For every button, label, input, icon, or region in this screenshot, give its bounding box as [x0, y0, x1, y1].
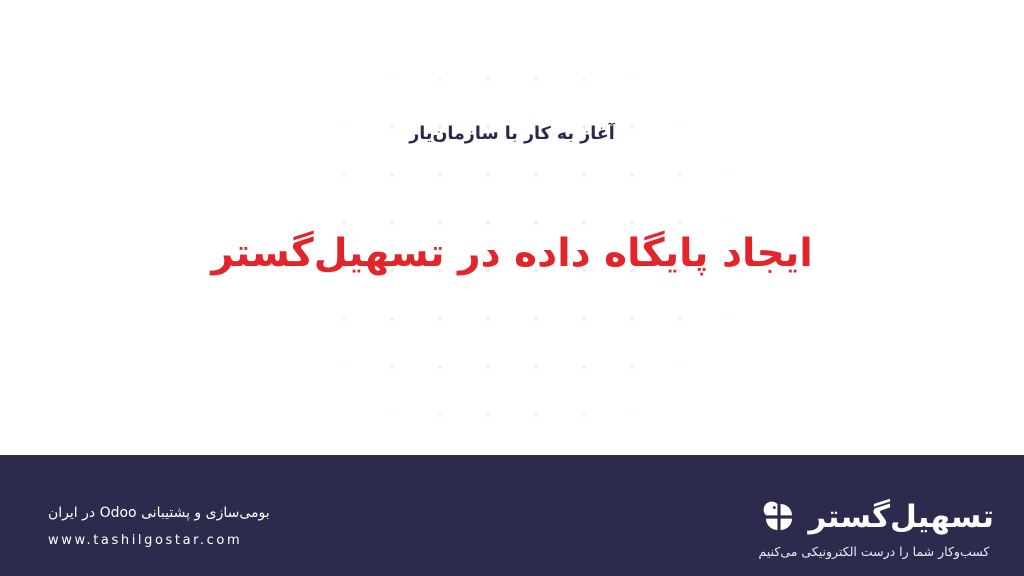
brand-lockup: تسهیل‌گستر کسب‌وکار شما را درست الکترونی… — [759, 497, 995, 560]
brand-row: تسهیل‌گستر — [759, 497, 995, 537]
slide-canvas: آغاز به کار با سازمان‌یار ایجاد پایگاه د… — [0, 0, 1024, 576]
four-petal-logo-icon — [759, 497, 799, 537]
footer-website-url[interactable]: www.tashilgostar.com — [48, 533, 270, 548]
brand-wordmark: تسهیل‌گستر — [809, 502, 995, 533]
slide-hero: آغاز به کار با سازمان‌یار ایجاد پایگاه د… — [0, 0, 1024, 455]
slide-footer: بومی‌سازی و پشتیبانی Odoo در ایران www.t… — [0, 455, 1024, 576]
footer-left-block: بومی‌سازی و پشتیبانی Odoo در ایران www.t… — [48, 503, 270, 548]
footer-tagline-fa: بومی‌سازی و پشتیبانی Odoo در ایران — [48, 503, 270, 524]
slide-eyebrow: آغاز به کار با سازمان‌یار — [0, 122, 1024, 147]
brand-slogan: کسب‌وکار شما را درست الکترونیکی می‌کنیم — [759, 544, 990, 560]
page-title: ایجاد پایگاه داده در تسهیل‌گستر — [0, 227, 1024, 281]
